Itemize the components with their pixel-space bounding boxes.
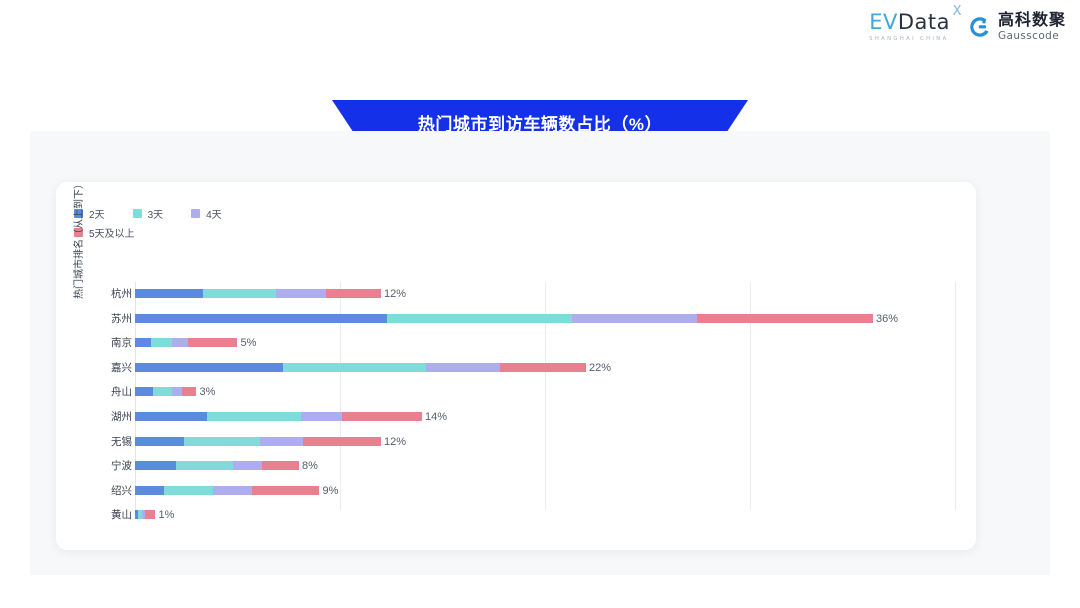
page-header: EVDataX SHANGHAI CHINA 高科数聚 Gausscode bbox=[0, 0, 1080, 58]
legend-swatch-icon bbox=[191, 209, 200, 218]
legend-item-3[interactable]: 4天 bbox=[191, 206, 222, 221]
gausscode-name-en: Gausscode bbox=[998, 31, 1066, 42]
logo-group: EVDataX SHANGHAI CHINA 高科数聚 Gausscode bbox=[869, 12, 1066, 42]
legend-item-2[interactable]: 3天 bbox=[133, 206, 164, 221]
evdata-wordmark: EVDataX bbox=[869, 12, 950, 33]
legend-swatch-icon bbox=[74, 209, 83, 218]
gausscode-name-cn: 高科数聚 bbox=[998, 13, 1066, 29]
legend-row: 2天3天4天5天及以上 bbox=[74, 206, 494, 240]
evdata-wordmark-ev: EV bbox=[869, 10, 898, 34]
evdata-superscript-x: X bbox=[953, 5, 962, 18]
legend-label: 5天及以上 bbox=[89, 225, 135, 240]
evdata-subtitle: SHANGHAI CHINA bbox=[869, 36, 948, 42]
gausscode-text: 高科数聚 Gausscode bbox=[998, 13, 1066, 42]
legend-item-1[interactable]: 2天 bbox=[74, 206, 105, 221]
legend-swatch-icon bbox=[74, 228, 83, 237]
evdata-logo: EVDataX SHANGHAI CHINA bbox=[869, 12, 950, 42]
legend-label: 4天 bbox=[206, 206, 222, 221]
gausscode-mark-icon bbox=[968, 15, 992, 39]
legend-label: 3天 bbox=[148, 206, 164, 221]
legend-swatch-icon bbox=[133, 209, 142, 218]
evdata-wordmark-data: Data bbox=[898, 10, 950, 34]
gausscode-logo: 高科数聚 Gausscode bbox=[968, 13, 1066, 42]
chart-legend: 2天3天4天5天及以上 bbox=[74, 206, 494, 240]
legend-item-4[interactable]: 5天及以上 bbox=[74, 225, 466, 240]
legend-label: 2天 bbox=[89, 206, 105, 221]
